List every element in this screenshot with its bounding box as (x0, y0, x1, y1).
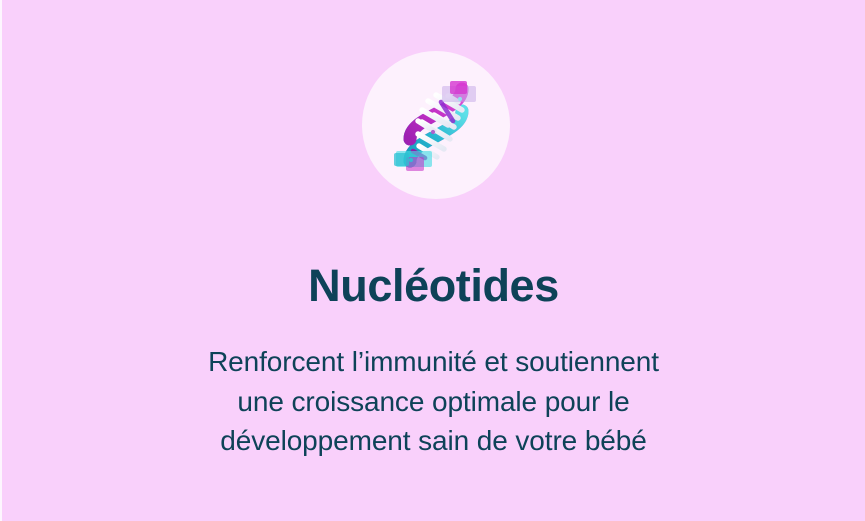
description-line: une croissance optimale pour le (154, 382, 714, 422)
description-line: développement sain de votre bébé (154, 421, 714, 461)
icon-badge (362, 51, 510, 199)
benefit-description: Renforcent l’immunité et soutiennent une… (154, 342, 714, 461)
dna-helix-icon (384, 73, 488, 177)
page-title: Nucléotides (2, 258, 865, 314)
nutrient-benefit-card: Nucléotides Renforcent l’immunité et sou… (0, 0, 865, 521)
description-line: Renforcent l’immunité et soutiennent (154, 342, 714, 382)
